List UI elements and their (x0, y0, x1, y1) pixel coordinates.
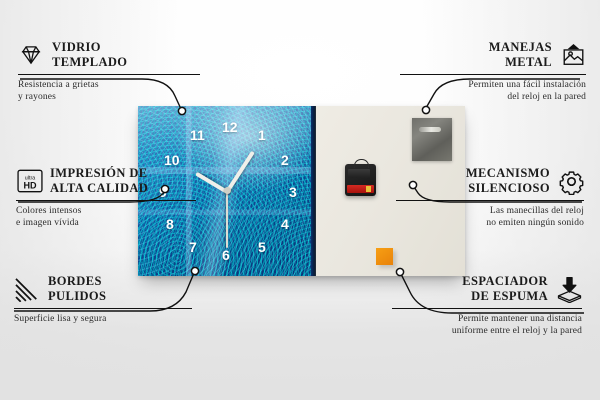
clock-second-hand (226, 192, 228, 248)
mechanism-housing-detail (348, 169, 370, 178)
callout-rule (396, 200, 584, 201)
clock-numeral-12: 12 (222, 120, 238, 134)
callout-espaciador-espuma[interactable]: ESPACIADOR DE ESPUMA Permite mantener un… (392, 274, 582, 338)
callout-title: MECANISMO SILENCIOSO (466, 166, 550, 196)
metal-hanger-plate (412, 118, 452, 161)
diamond-icon (18, 42, 44, 68)
clock-numeral-2: 2 (281, 153, 289, 167)
callout-header: MANEJAS METAL (396, 40, 586, 70)
callout-header: BORDES PULIDOS (14, 274, 204, 304)
callout-header: ESPACIADOR DE ESPUMA (392, 274, 582, 304)
callout-rule (16, 200, 196, 201)
clock-numeral-10: 10 (164, 153, 180, 167)
callout-vidrio-templado[interactable]: VIDRIO TEMPLADO Resistencia a grietas y … (18, 40, 208, 104)
clock-numeral-4: 4 (281, 217, 289, 231)
gear-icon (558, 168, 584, 194)
clock-numeral-5: 5 (258, 240, 266, 254)
callout-title: ESPACIADOR DE ESPUMA (462, 274, 548, 304)
mechanism-hanging-loop (354, 159, 369, 168)
callout-impresion-alta-calidad[interactable]: ultra HD IMPRESIÓN DE ALTA CALIDAD Color… (16, 166, 206, 230)
mechanism-battery-label (347, 185, 374, 193)
callout-title: IMPRESIÓN DE ALTA CALIDAD (50, 166, 148, 196)
infographic-canvas: 12 1 2 3 4 5 6 7 8 9 10 11 (0, 0, 600, 400)
callout-subtitle: Permite mantener una distancia uniforme … (392, 313, 582, 338)
callout-rule (392, 308, 582, 309)
arrow-down-pad-icon (556, 276, 582, 302)
callout-rule (18, 74, 200, 75)
clock-numeral-7: 7 (189, 240, 197, 254)
callout-subtitle: Permiten una fácil instalación del reloj… (396, 79, 586, 104)
clock-numeral-6: 6 (222, 248, 230, 262)
callout-title: MANEJAS METAL (489, 40, 552, 70)
ultra-hd-icon: ultra HD (16, 168, 42, 194)
callout-bordes-pulidos[interactable]: BORDES PULIDOS Superficie lisa y segura (14, 274, 204, 325)
callout-subtitle: Colores intensos e imagen vívida (16, 205, 206, 230)
clock-center-cap (224, 187, 231, 194)
beveled-edge-icon (14, 276, 40, 302)
callout-subtitle: Resistencia a grietas y rayones (18, 79, 208, 104)
clock-numeral-1: 1 (258, 128, 266, 142)
callout-rule (14, 308, 192, 309)
callout-manejas-metal[interactable]: MANEJAS METAL Permiten una fácil instala… (396, 40, 586, 104)
callout-subtitle: Las manecillas del reloj no emiten ningú… (394, 205, 584, 230)
callout-header: MECANISMO SILENCIOSO (394, 166, 584, 196)
callout-header: VIDRIO TEMPLADO (18, 40, 208, 70)
callout-mecanismo-silencioso[interactable]: MECANISMO SILENCIOSO Las manecillas del … (394, 166, 584, 230)
foam-spacer (376, 248, 393, 265)
callout-rule (400, 74, 586, 75)
clock-numeral-11: 11 (190, 128, 205, 142)
callout-subtitle: Superficie lisa y segura (14, 313, 204, 325)
clock-mechanism (345, 164, 376, 196)
callout-title: BORDES PULIDOS (48, 274, 106, 304)
battery-terminal (366, 186, 371, 192)
clock-numeral-3: 3 (289, 185, 297, 199)
callout-title: VIDRIO TEMPLADO (52, 40, 127, 70)
ultra-hd-bottom-text: HD (23, 180, 37, 190)
hanger-slot (419, 127, 441, 132)
framed-picture-hanging-icon (560, 42, 586, 68)
callout-header: ultra HD IMPRESIÓN DE ALTA CALIDAD (16, 166, 206, 196)
